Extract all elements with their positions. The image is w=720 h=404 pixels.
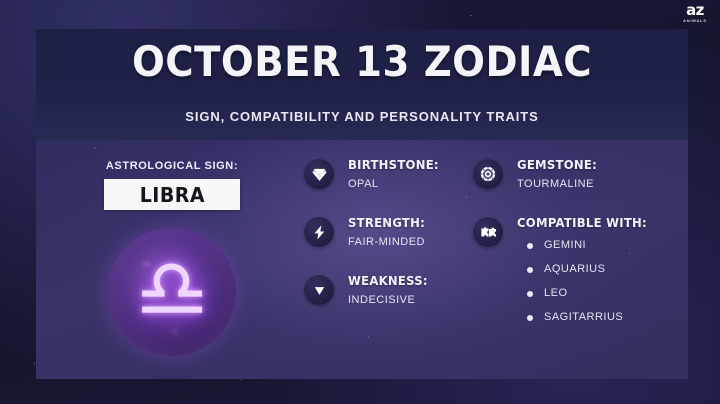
attribute-gemstone-label: GEMSTONE: — [517, 158, 676, 172]
attribute-strength: STRENGTH: FAIR-MINDED — [304, 216, 480, 252]
page-title: OCTOBER 13 ZODIAC — [62, 41, 662, 83]
attribute-weakness: WEAKNESS: INDECISIVE — [304, 274, 480, 310]
attribute-gemstone: GEMSTONE: TOURMALINE — [473, 158, 688, 194]
attribute-strength-label: STRENGTH: — [348, 216, 471, 230]
attribute-birthstone: BIRTHSTONE: OPAL — [304, 158, 480, 194]
logo-wordmark: az — [678, 3, 712, 18]
attribute-gemstone-value: TOURMALINE — [517, 178, 688, 190]
az-animals-logo[interactable]: az ANIMALS — [678, 3, 712, 23]
list-item: LEO — [527, 287, 688, 299]
header-band: OCTOBER 13 ZODIAC SIGN, COMPATIBILITY AN… — [36, 29, 688, 140]
astrological-sign-label: ASTROLOGICAL SIGN: — [60, 160, 284, 172]
attribute-strength-value: FAIR-MINDED — [348, 236, 480, 248]
list-item: SAGITARRIUS — [527, 311, 688, 323]
zodiac-symbol-orb: ♎ — [108, 228, 236, 356]
list-item: AQUARIUS — [527, 263, 688, 275]
attributes-column-left: BIRTHSTONE: OPAL STRENGTH: FAIR-MINDED — [304, 158, 480, 332]
down-arrow-icon — [304, 275, 334, 305]
attributes-column-right: GEMSTONE: TOURMALINE COMPATIBLE WITH: GE… — [473, 158, 688, 335]
page-subtitle: SIGN, COMPATIBILITY AND PERSONALITY TRAI… — [36, 109, 688, 124]
astrological-sign-box: LIBRA — [104, 179, 240, 210]
list-item: GEMINI — [527, 239, 688, 251]
attribute-birthstone-label: BIRTHSTONE: — [348, 158, 471, 172]
astrological-sign-name: LIBRA — [139, 183, 204, 207]
attribute-weakness-value: INDECISIVE — [348, 294, 480, 306]
attribute-compatible-with: COMPATIBLE WITH: GEMINI AQUARIUS LEO SAG… — [473, 216, 688, 323]
attribute-birthstone-value: OPAL — [348, 178, 480, 190]
infographic-card: OCTOBER 13 ZODIAC SIGN, COMPATIBILITY AN… — [36, 29, 688, 379]
poster-backdrop: az ANIMALS OCTOBER 13 ZODIAC SIGN, COMPA… — [0, 0, 720, 404]
lightning-bolt-icon — [304, 217, 334, 247]
diamond-gem-icon — [304, 159, 334, 189]
logo-submark: ANIMALS — [678, 19, 712, 23]
libra-zodiac-symbol-icon: ♎ — [135, 249, 209, 331]
card-body: ASTROLOGICAL SIGN: LIBRA ♎ — [36, 140, 688, 379]
compatible-signs-list: GEMINI AQUARIUS LEO SAGITARRIUS — [527, 239, 688, 323]
attribute-compatible-label: COMPATIBLE WITH: — [517, 216, 676, 230]
puzzle-pieces-icon — [473, 217, 503, 247]
attribute-weakness-label: WEAKNESS: — [348, 274, 471, 288]
round-gemstone-icon — [473, 159, 503, 189]
astrological-sign-panel: ASTROLOGICAL SIGN: LIBRA ♎ — [60, 160, 284, 356]
